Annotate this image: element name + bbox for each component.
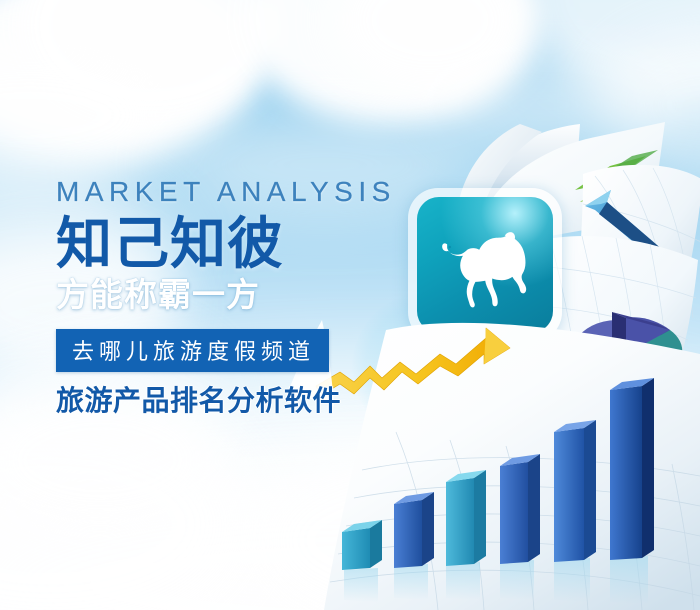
bar-2 xyxy=(394,492,434,568)
bar-3 xyxy=(446,470,486,566)
product-name-text: 旅游产品排名分析软件 xyxy=(56,379,386,419)
app-icon-surface xyxy=(417,197,553,333)
bar-5 xyxy=(554,420,596,562)
page-title: 知己知彼 xyxy=(56,215,386,273)
subtitle-text: 方能称霸一方 xyxy=(56,277,386,313)
kicker-text: MARKET ANALYSIS xyxy=(56,178,386,206)
bar-6 xyxy=(610,378,654,560)
headline-text-block: MARKET ANALYSIS 知己知彼 方能称霸一方 去哪儿旅游度假频道 旅游… xyxy=(56,178,386,419)
bar-4 xyxy=(500,454,540,564)
camel-icon xyxy=(433,219,542,314)
qunar-app-icon[interactable] xyxy=(408,188,562,342)
channel-badge: 去哪儿旅游度假频道 xyxy=(56,329,329,372)
market-analysis-banner: MARKET ANALYSIS 知己知彼 方能称霸一方 去哪儿旅游度假频道 旅游… xyxy=(0,0,700,610)
